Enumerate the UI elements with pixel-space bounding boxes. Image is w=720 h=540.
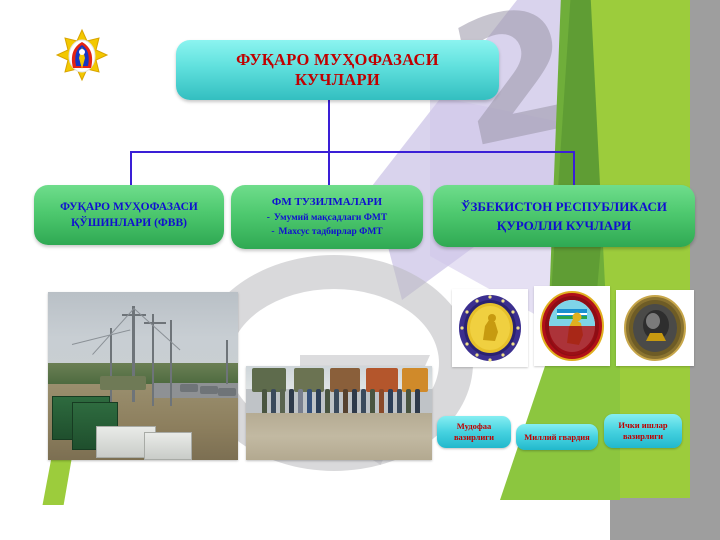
org-node-root-line-1: ФУҚАРО МУҲОФАЗАСИ [236, 50, 439, 70]
photo1-pole-right [226, 340, 228, 384]
photo2-personnel-row [246, 389, 432, 413]
photo2-person [406, 389, 411, 413]
pill-ichki-ishlar-line-1: Ички ишлар [618, 420, 667, 431]
org-node-fm-item-1-label: Умумий мақсадлаги ФМТ [274, 213, 387, 223]
photo1-mast-d [170, 320, 172, 406]
photo1-sky [48, 292, 238, 369]
connector-horizontal-bus [130, 151, 575, 153]
org-node-qurolli-kuchlar[interactable]: ЎЗБЕКИСТОН РЕСПУБЛИКАСИ ҚУРОЛЛИ КУЧЛАРИ [433, 185, 695, 247]
photo1-vehicle-2 [200, 386, 218, 394]
org-node-fvv-line-2: ҚЎШИНЛАРИ (ФВВ) [71, 215, 187, 231]
org-node-fm-item-2: -Махсус тадбирлар ФМТ [271, 225, 382, 239]
photo1-vehicle-3 [218, 388, 236, 396]
org-node-fm-item-2-label: Махсус тадбирлар ФМТ [279, 227, 383, 237]
bullet-dash-icon-2: - [271, 227, 274, 237]
photo2-person [361, 389, 366, 413]
photo2-person [325, 389, 330, 413]
org-node-fm-tuzilmalari[interactable]: ФМ ТУЗИЛМАЛАРИ -Умумий мақсадлаги ФМТ -М… [231, 185, 423, 249]
milliy-gvardiya-emblem-icon [534, 286, 610, 366]
photo2-person [379, 389, 384, 413]
right-grey-band [686, 0, 720, 498]
photo1-white-trailer-2 [144, 432, 192, 460]
photo2-person [316, 389, 321, 413]
pill-ichki-ishlar-line-2: вазирлиги [623, 431, 663, 442]
slide-canvas: 24 ФУҚАРО МУҲОФАЗАСИ КУЧЛАРИ [0, 0, 720, 540]
org-node-root[interactable]: ФУҚАРО МУҲОФАЗАСИ КУЧЛАРИ [176, 40, 499, 100]
pill-mudofaa-line-2: вазирлиги [454, 432, 494, 443]
photo2-person [415, 389, 420, 413]
org-node-root-line-2: КУЧЛАРИ [295, 70, 380, 90]
connector-root-vertical [328, 100, 330, 152]
pill-mudofaa-line-1: Мудофаа [457, 421, 492, 432]
pill-milliy-gvardiya-line-1: Миллий гвардия [524, 432, 590, 443]
emergency-ministry-star-emblem-icon [55, 28, 109, 82]
field-camp-photo [48, 292, 238, 460]
photo2-person [262, 389, 267, 413]
photo1-tent-cluster [100, 376, 146, 390]
photo1-mast-c [110, 328, 112, 402]
photo1-vehicle-1 [180, 384, 198, 392]
org-node-qk-line-2: ҚУРОЛЛИ КУЧЛАРИ [497, 216, 631, 235]
connector-branch-middle [328, 151, 330, 185]
connector-branch-right [573, 151, 575, 185]
photo2-person [289, 389, 294, 413]
photo2-ground [246, 413, 432, 460]
photo2-person [370, 389, 375, 413]
photo2-person [397, 389, 402, 413]
photo2-person [352, 389, 357, 413]
photo1-crossarm-2 [144, 322, 166, 324]
photo2-person [307, 389, 312, 413]
ichki-ishlar-emblem-icon [616, 290, 694, 366]
pill-mudofaa-vazirligi[interactable]: Мудофаа вазирлиги [437, 416, 511, 448]
pill-ichki-ishlar[interactable]: Ички ишлар вазирлиги [604, 414, 682, 448]
photo2-person [334, 389, 339, 413]
formation-photo [246, 366, 432, 460]
org-node-fvv[interactable]: ФУҚАРО МУҲОФАЗАСИ ҚЎШИНЛАРИ (ФВВ) [34, 185, 224, 245]
org-node-fvv-line-1: ФУҚАРО МУҲОФАЗАСИ [60, 199, 198, 215]
photo2-person [388, 389, 393, 413]
photo2-person [343, 389, 348, 413]
pill-milliy-gvardiya[interactable]: Миллий гвардия [516, 424, 598, 450]
org-node-fm-item-1: -Умумий мақсадлаги ФМТ [267, 211, 387, 225]
mudofaa-vazirligi-emblem-icon [452, 289, 528, 367]
bullet-dash-icon: - [267, 213, 270, 223]
photo2-person [298, 389, 303, 413]
photo2-person [271, 389, 276, 413]
org-node-fm-heading: ФМ ТУЗИЛМАЛАРИ [272, 195, 382, 210]
connector-branch-left [130, 151, 132, 185]
org-node-qk-line-1: ЎЗБЕКИСТОН РЕСПУБЛИКАСИ [461, 197, 667, 216]
photo2-person [280, 389, 285, 413]
